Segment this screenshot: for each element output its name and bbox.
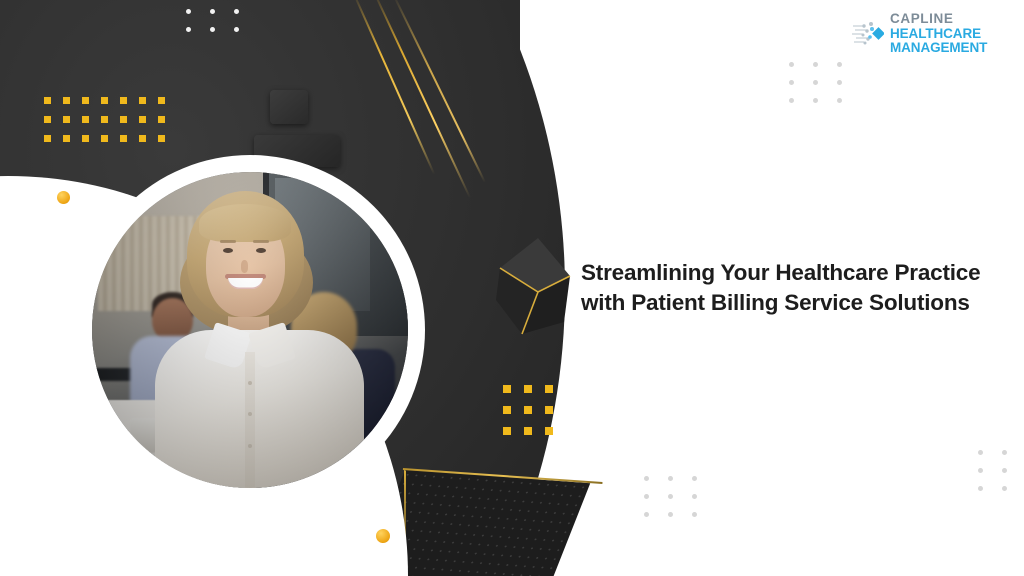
brand-name-primary: CAPLINE <box>890 12 1017 26</box>
gray-dot-grid-top-right <box>789 62 842 103</box>
page-title: Streamlining Your Healthcare Practice wi… <box>581 258 1011 318</box>
headline-line-1: Streamlining Your Healthcare Practice <box>581 260 980 285</box>
gray-dot-grid-bottom-center <box>644 476 697 517</box>
brand-text: CAPLINE HEALTHCARE MANAGEMENT <box>890 12 1017 55</box>
white-dot-grid <box>186 9 239 32</box>
gold-dot-left <box>57 191 70 204</box>
brand-logo[interactable]: CAPLINE HEALTHCARE MANAGEMENT <box>852 14 1017 52</box>
gold-dot-bottom <box>376 529 390 543</box>
banner-canvas: Streamlining Your Healthcare Practice wi… <box>0 0 1024 576</box>
hero-photo <box>92 172 408 488</box>
gray-dot-grid-bottom-right <box>978 450 1024 491</box>
photo-vignette <box>92 172 408 488</box>
faceted-diamond-icon <box>492 230 582 350</box>
brand-name-secondary: HEALTHCARE MANAGEMENT <box>890 27 1017 54</box>
gold-square-grid-small <box>503 385 553 435</box>
headline-line-2: with Patient Billing Service Solutions <box>581 288 1011 318</box>
network-nodes-icon <box>852 18 884 48</box>
dark-plate-1 <box>270 90 308 124</box>
gold-square-grid-large <box>44 97 165 142</box>
